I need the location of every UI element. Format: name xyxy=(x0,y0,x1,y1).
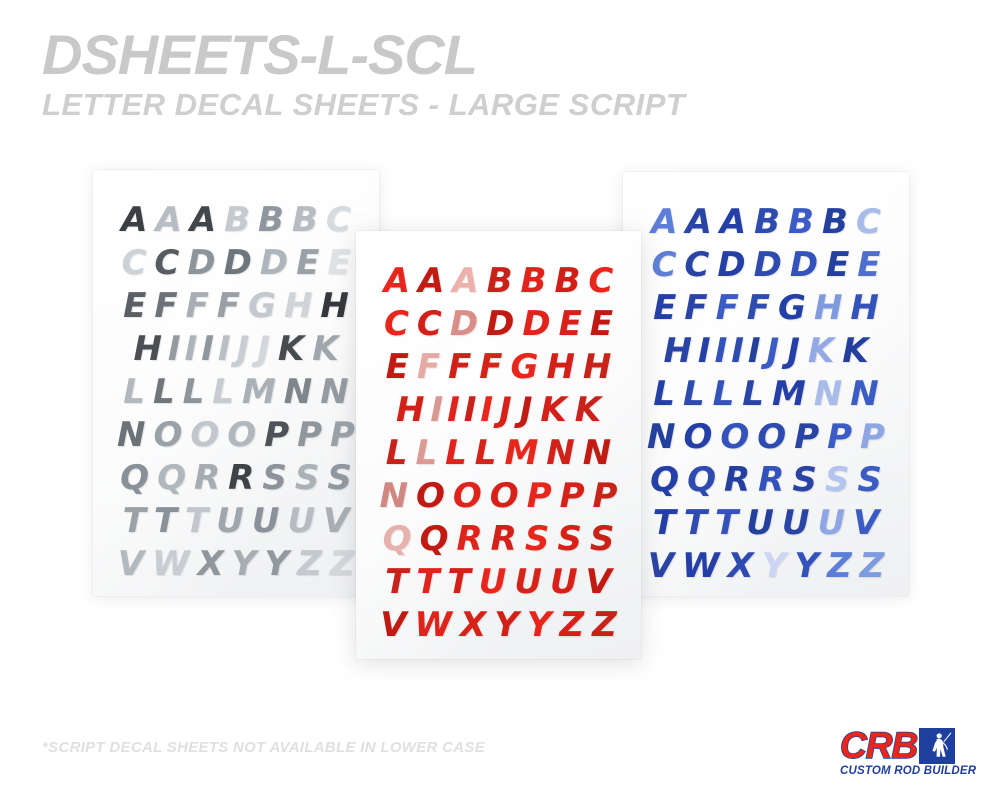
decal-letter[interactable]: C xyxy=(380,305,413,343)
decal-letter[interactable]: U xyxy=(283,502,319,540)
decal-letter[interactable]: I xyxy=(445,391,462,429)
decal-letter[interactable]: W xyxy=(411,606,457,644)
decal-letter[interactable]: Q xyxy=(379,520,416,558)
decal-letter[interactable]: V xyxy=(114,545,148,583)
letter-row: TTTUUUV xyxy=(107,497,365,540)
decal-letter[interactable]: E xyxy=(119,287,150,325)
decal-letter[interactable]: V xyxy=(644,547,678,585)
decal-letter[interactable]: U xyxy=(212,502,248,540)
decal-letter[interactable]: G xyxy=(774,289,810,327)
decal-letter[interactable]: R xyxy=(754,461,788,499)
decal-letter[interactable]: C xyxy=(322,201,355,239)
decal-letter[interactable]: C xyxy=(150,244,183,282)
decal-letter[interactable]: F xyxy=(150,287,181,325)
decal-letter[interactable]: F xyxy=(182,287,213,325)
decal-letter[interactable]: O xyxy=(412,477,449,515)
decal-letter[interactable]: S xyxy=(853,461,886,499)
decal-letter[interactable]: P xyxy=(523,477,556,515)
decal-letter[interactable]: B xyxy=(483,262,517,300)
decal-letter[interactable]: L xyxy=(441,434,471,472)
decal-letter[interactable]: P xyxy=(293,416,326,454)
decal-letter[interactable]: Z xyxy=(293,545,326,583)
decal-letter[interactable]: D xyxy=(220,244,256,282)
letter-row: QQRRSSS xyxy=(370,515,627,558)
decal-letter[interactable]: R xyxy=(452,520,486,558)
letter-row: HIIIIJJKK xyxy=(637,327,895,370)
decal-letter[interactable]: A xyxy=(186,201,220,239)
decal-letter[interactable]: L xyxy=(149,373,179,411)
decal-letter[interactable]: T xyxy=(150,502,181,540)
decal-letter[interactable]: U xyxy=(248,502,284,540)
decal-letter[interactable]: I xyxy=(462,391,479,429)
decal-letter[interactable]: T xyxy=(680,504,711,542)
decal-letter[interactable]: U xyxy=(778,504,814,542)
decal-letter[interactable]: S xyxy=(821,461,854,499)
decal-letter[interactable]: L xyxy=(738,375,768,413)
decal-letter[interactable]: P xyxy=(260,416,293,454)
decal-letter[interactable]: O xyxy=(753,418,790,456)
decal-letter[interactable]: I xyxy=(199,330,216,368)
decal-letter[interactable]: U xyxy=(510,563,546,601)
letter-row: HIIIIJJKK xyxy=(370,386,627,429)
decal-letter[interactable]: D xyxy=(713,246,749,284)
letter-row: VWXYYZZ xyxy=(107,540,365,583)
decal-letter[interactable]: P xyxy=(589,477,622,515)
decal-letter[interactable]: I xyxy=(166,330,183,368)
decal-letter[interactable]: J xyxy=(783,332,804,370)
decal-letter[interactable]: I xyxy=(428,391,445,429)
decal-letter[interactable]: E xyxy=(853,246,884,284)
decal-letter[interactable]: H xyxy=(659,332,695,370)
page-title: DSHEETS-L-SCL xyxy=(42,26,922,84)
decal-letter[interactable]: S xyxy=(521,520,554,558)
decal-letter[interactable]: U xyxy=(742,504,778,542)
decal-letter[interactable]: V xyxy=(376,606,410,644)
footnote: *SCRIPT DECAL SHEETS NOT AVAILABLE IN LO… xyxy=(42,739,485,756)
decal-letter[interactable]: J xyxy=(763,332,784,370)
decal-letter[interactable]: N xyxy=(113,416,149,454)
decal-letter[interactable]: J xyxy=(253,330,274,368)
decal-letter[interactable]: K xyxy=(804,332,838,370)
decal-letter[interactable]: I xyxy=(713,332,730,370)
decal-letter[interactable]: N xyxy=(579,434,615,472)
letter-row: NOOOPPP xyxy=(370,472,627,515)
decal-letter[interactable]: A xyxy=(647,203,681,241)
decal-letter[interactable]: S xyxy=(553,520,586,558)
decal-letter[interactable]: N xyxy=(643,418,679,456)
decal-letter[interactable]: F xyxy=(413,348,444,386)
decal-letter[interactable]: A xyxy=(151,201,185,239)
decal-letter[interactable]: O xyxy=(486,477,523,515)
decal-letter[interactable]: D xyxy=(750,246,786,284)
decal-letter[interactable]: F xyxy=(444,348,475,386)
letter-row: TTTUUUV xyxy=(370,558,627,601)
decal-letter[interactable]: L xyxy=(179,373,209,411)
decal-letter[interactable]: K xyxy=(536,391,570,429)
decal-letter[interactable]: Q xyxy=(416,520,453,558)
decal-letter[interactable]: C xyxy=(852,203,885,241)
decal-letter[interactable]: C xyxy=(584,262,617,300)
decal-letter[interactable]: K xyxy=(308,330,342,368)
decal-letter[interactable]: G xyxy=(507,348,543,386)
decal-letter[interactable]: B xyxy=(254,201,288,239)
decal-letter[interactable]: C xyxy=(413,305,446,343)
decal-letter[interactable]: Q xyxy=(153,459,190,497)
decal-letter[interactable]: R xyxy=(720,461,754,499)
decal-letter[interactable]: Y xyxy=(523,606,556,644)
decal-letter[interactable]: I xyxy=(478,391,495,429)
decal-letter[interactable]: M xyxy=(500,434,542,472)
decal-letter[interactable]: Q xyxy=(646,461,683,499)
decal-letter[interactable]: U xyxy=(475,563,511,601)
decal-letter[interactable]: N xyxy=(316,373,352,411)
decal-letter[interactable]: E xyxy=(822,246,853,284)
decal-letter[interactable]: I xyxy=(216,330,233,368)
product-image-canvas: DSHEETS-L-SCL LETTER DECAL SHEETS - LARG… xyxy=(0,0,1000,800)
letter-row: QQRRSSS xyxy=(637,456,895,499)
decal-letter[interactable]: Z xyxy=(823,547,856,585)
decal-letter[interactable]: Y xyxy=(490,606,523,644)
decal-letter[interactable]: T xyxy=(412,563,443,601)
decal-letter[interactable]: Z xyxy=(556,606,589,644)
decal-letter[interactable]: A xyxy=(117,201,151,239)
decal-letter[interactable]: P xyxy=(556,477,589,515)
decal-letter[interactable]: T xyxy=(119,502,150,540)
letter-grid-silver: AAABBBCCCDDDEEEFFFGHHHIIIIJJKKLLLLMNNNOO… xyxy=(93,170,379,583)
decal-letter[interactable]: K xyxy=(274,330,308,368)
letter-row: CCDDDEE xyxy=(107,239,365,282)
letter-row: LLLLMNN xyxy=(637,370,895,413)
decal-letter[interactable]: D xyxy=(446,305,482,343)
letter-row: TTTUUUV xyxy=(637,499,895,542)
logo-tagline: CUSTOM ROD BUILDER xyxy=(840,765,980,778)
decal-letter[interactable]: B xyxy=(550,262,584,300)
decal-letter[interactable]: O xyxy=(186,416,223,454)
decal-letter[interactable]: P xyxy=(856,418,889,456)
decal-letter[interactable]: S xyxy=(258,459,291,497)
decal-letter[interactable]: E xyxy=(292,244,323,282)
decal-letter[interactable]: V xyxy=(319,502,353,540)
decal-letter[interactable]: Y xyxy=(758,547,791,585)
red-decal-sheet[interactable]: AAABBBCCCDDDEEEFFFGHHHIIIIJJKKLLLLMNNNOO… xyxy=(356,231,641,659)
decal-letter[interactable]: I xyxy=(183,330,200,368)
decal-letter[interactable]: T xyxy=(181,502,212,540)
decal-letter[interactable]: X xyxy=(724,547,758,585)
decal-letter[interactable]: C xyxy=(117,244,150,282)
decal-letter[interactable]: B xyxy=(517,262,551,300)
decal-letter[interactable]: F xyxy=(680,289,711,327)
letter-grid-red: AAABBBCCCDDDEEEFFFGHHHIIIIJJKKLLLLMNNNOO… xyxy=(356,231,641,644)
decal-letter[interactable]: S xyxy=(323,459,356,497)
letter-row: LLLLMNN xyxy=(370,429,627,472)
decal-letter[interactable]: L xyxy=(382,434,412,472)
decal-letter[interactable]: C xyxy=(647,246,680,284)
decal-letter[interactable]: Z xyxy=(856,547,889,585)
letter-row: EFFFGHH xyxy=(637,284,895,327)
letter-row: CCDDDEE xyxy=(370,300,627,343)
letter-row: EFFFGHH xyxy=(107,282,365,325)
decal-letter[interactable]: B xyxy=(750,203,784,241)
decal-letter[interactable]: D xyxy=(518,305,554,343)
decal-letter[interactable]: D xyxy=(482,305,518,343)
decal-letter[interactable]: H xyxy=(846,289,882,327)
decal-letter[interactable]: L xyxy=(679,375,709,413)
decal-letter[interactable]: Y xyxy=(790,547,823,585)
letter-row: AAABBBC xyxy=(637,198,895,241)
decal-letter[interactable]: P xyxy=(326,416,359,454)
decal-letter[interactable]: E xyxy=(649,289,680,327)
decal-letter[interactable]: N xyxy=(846,375,882,413)
decal-letter[interactable]: I xyxy=(746,332,763,370)
decal-letter[interactable]: Q xyxy=(683,461,720,499)
decal-letter[interactable]: N xyxy=(280,373,316,411)
angler-silhouette-icon xyxy=(919,728,955,764)
decal-letter[interactable]: B xyxy=(288,201,322,239)
silver-decal-sheet[interactable]: AAABBBCCCDDDEEEFFFGHHHIIIIJJKKLLLLMNNNOO… xyxy=(93,170,379,596)
decal-letter[interactable]: L xyxy=(471,434,501,472)
decal-letter[interactable]: T xyxy=(649,504,680,542)
letter-row: VWXYYZZ xyxy=(637,542,895,585)
decal-letter[interactable]: F xyxy=(743,289,774,327)
decal-letter[interactable]: H xyxy=(129,330,165,368)
decal-letter[interactable]: U xyxy=(813,504,849,542)
decal-letter[interactable]: J xyxy=(516,391,537,429)
decal-letter[interactable]: F xyxy=(712,289,743,327)
decal-letter[interactable]: I xyxy=(696,332,713,370)
decal-letter[interactable]: Y xyxy=(228,545,261,583)
decal-letter[interactable]: L xyxy=(411,434,441,472)
decal-letter[interactable]: G xyxy=(244,287,280,325)
decal-letter[interactable]: N xyxy=(376,477,412,515)
letter-row: NOOOPPP xyxy=(637,413,895,456)
decal-letter[interactable]: O xyxy=(679,418,716,456)
decal-letter[interactable]: L xyxy=(208,373,238,411)
decal-letter[interactable]: W xyxy=(678,547,724,585)
decal-letter[interactable]: Z xyxy=(588,606,621,644)
decal-letter[interactable]: J xyxy=(233,330,254,368)
letter-grid-blue: AAABBBCCCDDDEEEFFFGHHHIIIIJJKKLLLLMNNNOO… xyxy=(623,172,909,585)
decal-letter[interactable]: E xyxy=(382,348,413,386)
decal-letter[interactable]: R xyxy=(190,459,224,497)
decal-letter[interactable]: B xyxy=(220,201,254,239)
letter-row: VWXYYZZ xyxy=(370,601,627,644)
letter-row: HIIIIJJKK xyxy=(107,325,365,368)
decal-letter[interactable]: H xyxy=(810,289,846,327)
decal-letter[interactable]: K xyxy=(838,332,872,370)
decal-letter[interactable]: E xyxy=(555,305,586,343)
decal-letter[interactable]: B xyxy=(784,203,818,241)
decal-letter[interactable]: T xyxy=(381,563,412,601)
decal-letter[interactable]: H xyxy=(392,391,428,429)
decal-letter[interactable]: D xyxy=(256,244,292,282)
decal-letter[interactable]: V xyxy=(849,504,883,542)
decal-letter[interactable]: F xyxy=(475,348,506,386)
decal-letter[interactable]: W xyxy=(148,545,194,583)
decal-letter[interactable]: S xyxy=(291,459,324,497)
decal-letter[interactable]: L xyxy=(649,375,679,413)
decal-letter[interactable]: T xyxy=(444,563,475,601)
letter-row: LLLLMNN xyxy=(107,368,365,411)
decal-letter[interactable]: R xyxy=(224,459,258,497)
decal-letter[interactable]: D xyxy=(786,246,822,284)
decal-letter[interactable]: I xyxy=(729,332,746,370)
decal-letter[interactable]: H xyxy=(280,287,316,325)
letter-row: AAABBBC xyxy=(370,257,627,300)
decal-letter[interactable]: K xyxy=(571,391,605,429)
decal-letter[interactable]: M xyxy=(768,375,810,413)
letter-row: AAABBBC xyxy=(107,196,365,239)
decal-letter[interactable]: D xyxy=(183,244,219,282)
decal-letter[interactable]: Z xyxy=(326,545,359,583)
decal-letter[interactable]: R xyxy=(487,520,521,558)
decal-letter[interactable]: T xyxy=(711,504,742,542)
decal-letter[interactable]: U xyxy=(546,563,582,601)
decal-letter[interactable]: J xyxy=(495,391,516,429)
decal-letter[interactable]: F xyxy=(213,287,244,325)
decal-letter[interactable]: L xyxy=(119,373,149,411)
logo-main-row: CRB xyxy=(840,728,980,764)
decal-letter[interactable]: N xyxy=(810,375,846,413)
decal-letter[interactable]: A xyxy=(448,262,482,300)
decal-letter[interactable]: M xyxy=(238,373,280,411)
blue-decal-sheet[interactable]: AAABBBCCCDDDEEEFFFGHHHIIIIJJKKLLLLMNNNOO… xyxy=(623,172,909,596)
decal-letter[interactable]: A xyxy=(716,203,750,241)
decal-letter[interactable]: O xyxy=(716,418,753,456)
decal-letter[interactable]: P xyxy=(790,418,823,456)
decal-letter[interactable]: H xyxy=(542,348,578,386)
decal-letter[interactable]: V xyxy=(582,563,616,601)
decal-letter[interactable]: N xyxy=(542,434,578,472)
letter-row: CCDDDEE xyxy=(637,241,895,284)
decal-letter[interactable]: O xyxy=(149,416,186,454)
decal-letter[interactable]: A xyxy=(414,262,448,300)
decal-letter[interactable]: Q xyxy=(116,459,153,497)
decal-letter[interactable]: A xyxy=(681,203,715,241)
decal-letter[interactable]: S xyxy=(586,520,619,558)
letter-row: QQRRSSS xyxy=(107,454,365,497)
decal-letter[interactable]: H xyxy=(316,287,352,325)
decal-letter[interactable]: P xyxy=(823,418,856,456)
decal-letter[interactable]: C xyxy=(680,246,713,284)
header: DSHEETS-L-SCL LETTER DECAL SHEETS - LARG… xyxy=(42,26,922,122)
decal-letter[interactable]: E xyxy=(323,244,354,282)
decal-letter[interactable]: X xyxy=(456,606,490,644)
page-subtitle: LETTER DECAL SHEETS - LARGE SCRIPT xyxy=(42,88,922,122)
decal-letter[interactable]: X xyxy=(194,545,228,583)
crb-logo[interactable]: CRB CUSTOM ROD BUILDER xyxy=(840,728,980,780)
letter-row: EFFFGHH xyxy=(370,343,627,386)
decal-letter[interactable]: E xyxy=(586,305,617,343)
decal-letter[interactable]: O xyxy=(223,416,260,454)
decal-letter[interactable]: B xyxy=(818,203,852,241)
decal-letter[interactable]: L xyxy=(709,375,739,413)
decal-letter[interactable]: Y xyxy=(260,545,293,583)
letter-row: NOOOPPP xyxy=(107,411,365,454)
logo-wordmark: CRB xyxy=(840,728,917,764)
decal-letter[interactable]: H xyxy=(579,348,615,386)
decal-letter[interactable]: S xyxy=(788,461,821,499)
decal-letter[interactable]: O xyxy=(449,477,486,515)
decal-letter[interactable]: A xyxy=(380,262,414,300)
